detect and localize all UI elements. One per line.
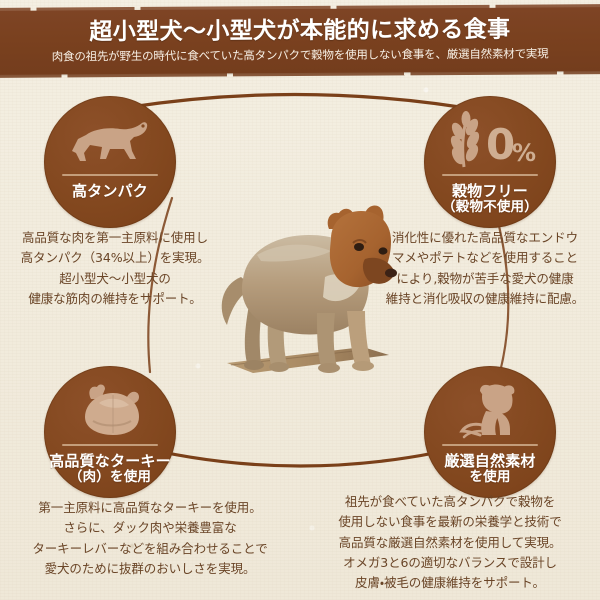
paragraph-quality-turkey: 第一主原料に高品質なターキーを使用。 さらに、ダック肉や栄養豊富な ターキーレバ… (0, 498, 300, 579)
paragraph-high-protein: 高品質な肉を第一主原料に使用し 高タンパク（34%以上）を実現。 超小型犬～小型… (4, 228, 226, 309)
badge-label: 高タンパク (72, 183, 148, 200)
badge-quality-turkey[interactable]: 高品質なターキー （肉）を使用 (44, 366, 176, 498)
paragraph-line: 健康な筋肉の維持をサポート。 (4, 289, 226, 309)
badge-label-line2: （穀物不使用） (442, 200, 538, 215)
paragraph-line: マメやポテトなどを使用すること (374, 248, 596, 268)
wolf-paw-2 (352, 361, 374, 371)
badge-natural-ingredients[interactable]: 厳選自然素材 を使用 (424, 366, 556, 498)
paragraph-line: 愛犬のために抜群のおいしさを実現。 (0, 559, 300, 579)
paragraph-grain-free: 消化性に優れた高品質なエンドウ マメやポテトなどを使用すること により,穀物が苦… (374, 228, 596, 309)
badge-label-line1: 厳選自然素材 (444, 452, 535, 470)
paragraph-line: ターキーレバーなどを組み合わせることで (0, 539, 300, 559)
svg-text:%: % (512, 139, 536, 167)
paragraph-line: 高品質な厳選自然素材を使用して実現。 (300, 533, 600, 553)
wolf-paw-1 (318, 363, 340, 373)
badge-label-line1: 高品質なターキー (49, 452, 171, 470)
badge-divider (442, 444, 538, 446)
wolf-front-leg-far (317, 313, 337, 367)
sitting-dog-icon (452, 377, 528, 439)
paragraph-line: 皮膚・被毛の健康維持をサポート。 (300, 573, 600, 593)
paragraph-natural-ingredients: 祖先が食べていた高タンパクで穀物を 使用しない食事を最新の栄養学と技術で 高品質… (300, 492, 600, 593)
page-subtitle: 肉食の祖先が野生の時代に食べていた高タンパクで穀物を使用しない食事を、厳選自然素… (52, 49, 549, 64)
paragraph-line: 高タンパク（34%以上）を実現。 (4, 248, 226, 268)
badge-label-line2: （肉）を使用 (49, 470, 171, 485)
arc-top (112, 94, 490, 112)
badge-divider (62, 444, 158, 446)
header-banner: 超小型犬～小型犬が本能的に求める食事 肉食の祖先が野生の時代に食べていた高タンパ… (0, 7, 600, 75)
badge-label: 高品質なターキー （肉）を使用 (49, 453, 171, 485)
roast-turkey-icon (69, 377, 151, 439)
badge-divider (442, 174, 538, 176)
paragraph-line: 祖先が食べていた高タンパクで穀物を (300, 492, 600, 512)
paragraph-line: 第一主原料に高品質なターキーを使用。 (0, 498, 300, 518)
paragraph-line: 高品質な肉を第一主原料に使用し (4, 228, 226, 248)
badge-label-line2: を使用 (444, 470, 535, 485)
wolf-eye-left (354, 243, 364, 251)
paragraph-line: 超小型犬～小型犬の (4, 269, 226, 289)
running-dog-icon (66, 107, 154, 169)
paragraph-line: オメガ3と6の適切なバランスで設計し (300, 553, 600, 573)
badge-grain-free[interactable]: 0 % 穀物フリー （穀物不使用） (424, 96, 556, 228)
wheat-zero-percent-icon: 0 % (442, 107, 538, 169)
paragraph-line: 維持と消化吸収の健康維持に配慮。 (374, 289, 596, 309)
infographic-page: 超小型犬～小型犬が本能的に求める食事 肉食の祖先が野生の時代に食べていた高タンパ… (0, 0, 600, 600)
wolf-paw-3 (244, 360, 264, 370)
paragraph-line: 使用しない食事を最新の栄養学と技術で (300, 512, 600, 532)
badge-divider (62, 174, 158, 176)
zero-percent-text: 0 (486, 120, 515, 169)
badge-label-line1: 穀物フリー (452, 182, 528, 200)
badge-high-protein[interactable]: 高タンパク (44, 96, 176, 228)
page-title: 超小型犬～小型犬が本能的に求める食事 (89, 19, 510, 45)
badge-label: 穀物フリー （穀物不使用） (442, 183, 538, 215)
paragraph-line: により,穀物が苦手な愛犬の健康 (374, 269, 596, 289)
wolf-paw-4 (269, 362, 289, 372)
badge-label: 厳選自然素材 を使用 (444, 453, 535, 485)
paragraph-line: 消化性に優れた高品質なエンドウ (374, 228, 596, 248)
paragraph-line: さらに、ダック肉や栄養豊富な (0, 518, 300, 538)
